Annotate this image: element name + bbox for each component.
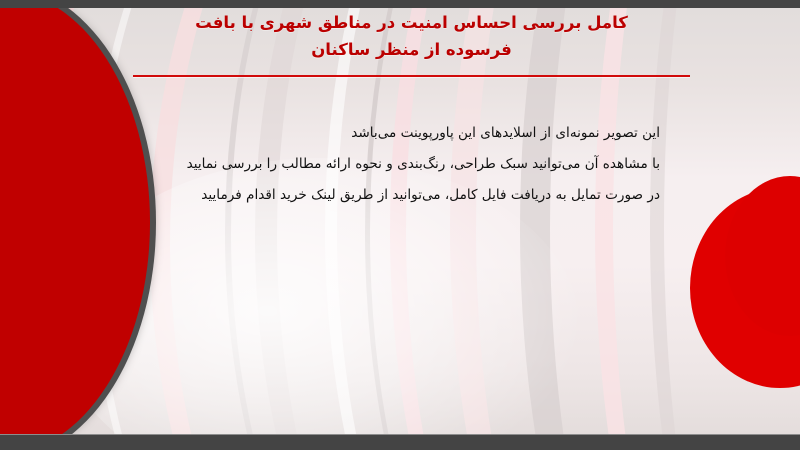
slide-body-text: این تصویر نمونه‌ای از اسلایدهای این پاور…	[140, 118, 660, 211]
body-line-1: این تصویر نمونه‌ای از اسلایدهای این پاور…	[140, 118, 660, 149]
body-line-2: با مشاهده آن می‌توانید سبک طراحی، رنگ‌بن…	[140, 149, 660, 180]
slide-title-line-1: کامل بررسی احساس امنیت در مناطق شهری با …	[133, 10, 690, 37]
title-divider-rule	[133, 75, 690, 77]
slide-title: کامل بررسی احساس امنیت در مناطق شهری با …	[133, 10, 690, 63]
presentation-slide: کامل بررسی احساس امنیت در مناطق شهری با …	[0, 0, 800, 450]
slide-content: کامل بررسی احساس امنیت در مناطق شهری با …	[0, 0, 800, 450]
body-line-3: در صورت تمایل به دریافت فایل کامل، می‌تو…	[140, 180, 660, 211]
frame-bottom-band	[0, 434, 800, 450]
slide-title-line-2: فرسوده از منظر ساکنان	[133, 37, 690, 64]
frame-top-band	[0, 0, 800, 8]
